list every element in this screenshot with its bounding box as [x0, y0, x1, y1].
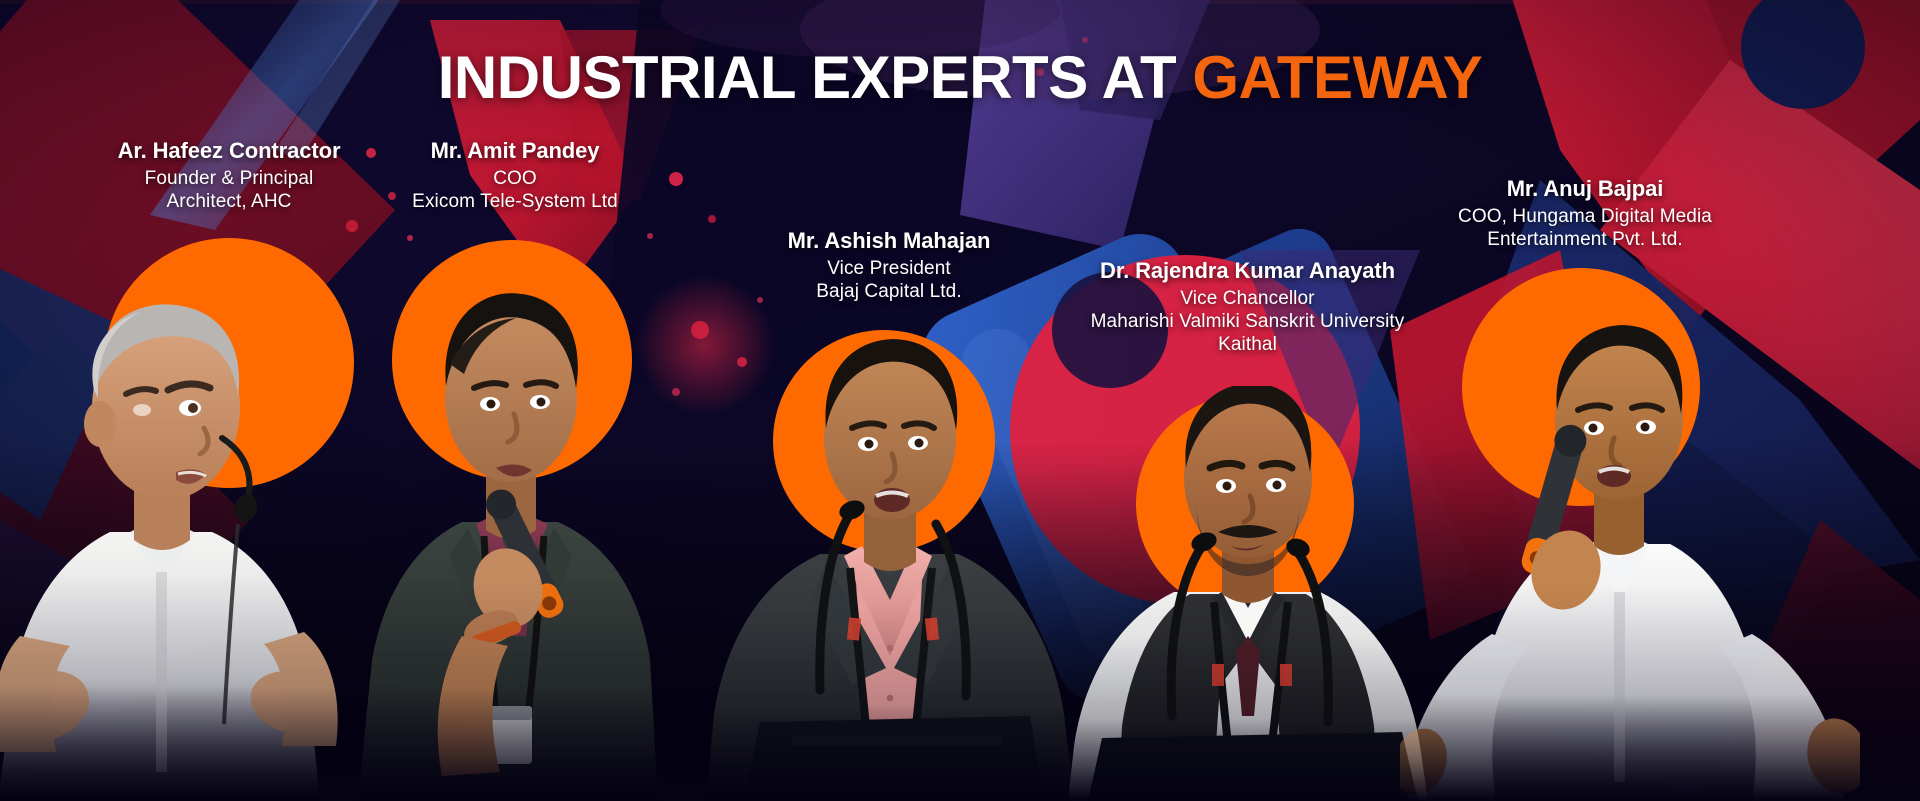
- speaker-5-role-line-2: Entertainment Pvt. Ltd.: [1380, 228, 1790, 251]
- speaker-2-portrait: [358, 236, 688, 801]
- speaker-3-role-line-2: Bajaj Capital Ltd.: [714, 280, 1064, 303]
- title-highlight: GATEWAY: [1192, 44, 1482, 111]
- speaker-3-caption: Mr. Ashish Mahajan Vice President Bajaj …: [714, 228, 1064, 303]
- speaker-5-caption: Mr. Anuj Bajpai COO, Hungama Digital Med…: [1380, 176, 1790, 251]
- speaker-1-portrait: [0, 232, 390, 801]
- promo-banner: INDUSTRIAL EXPERTS AT GATEWAY: [0, 0, 1920, 801]
- speaker-3-name: Mr. Ashish Mahajan: [714, 228, 1064, 255]
- speaker-3-portrait: [700, 318, 1080, 801]
- page-title: INDUSTRIAL EXPERTS AT GATEWAY: [0, 48, 1920, 108]
- speaker-4-portrait: [1062, 386, 1434, 801]
- speaker-3-role-line-1: Vice President: [714, 257, 1064, 280]
- speaker-2-role-line-2: Exicom Tele-System Ltd: [345, 190, 685, 213]
- speaker-2-role-line-1: COO: [345, 167, 685, 190]
- speaker-5-role-line-1: COO, Hungama Digital Media: [1380, 205, 1790, 228]
- speaker-2-name: Mr. Amit Pandey: [345, 138, 685, 165]
- title-prefix: INDUSTRIAL EXPERTS AT: [438, 44, 1193, 111]
- speaker-5-portrait: [1400, 262, 1860, 801]
- speaker-2-caption: Mr. Amit Pandey COO Exicom Tele-System L…: [345, 138, 685, 213]
- speaker-5-name: Mr. Anuj Bajpai: [1380, 176, 1790, 203]
